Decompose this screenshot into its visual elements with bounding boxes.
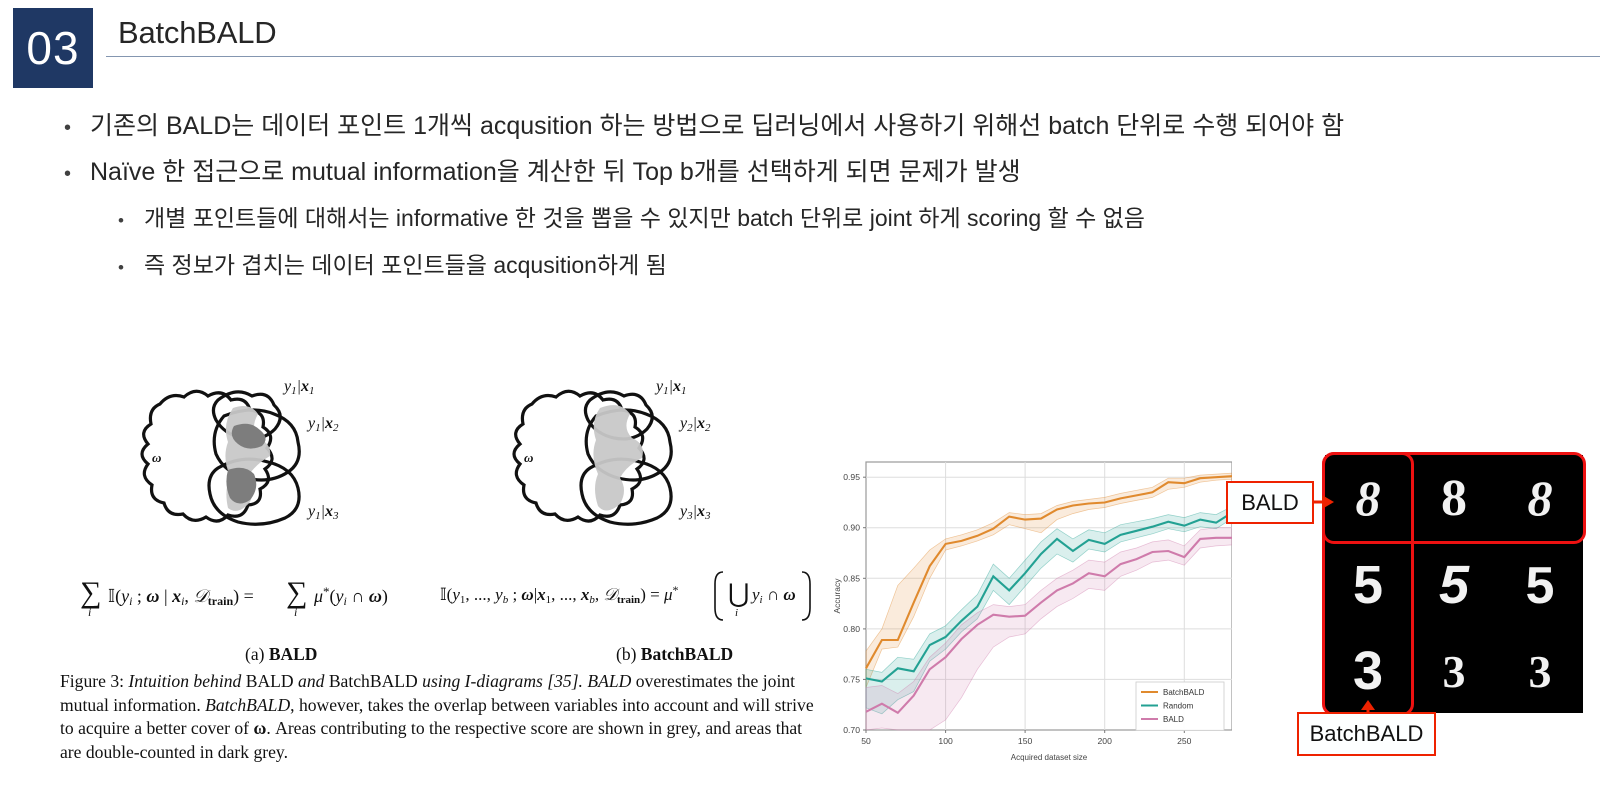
ytick-label: 0.70	[843, 725, 860, 735]
accuracy-chart-svg: 0.700.750.800.850.900.9550100150200250 A…	[826, 440, 1232, 770]
mnist-cell: 5	[1411, 541, 1497, 627]
xtick-label: 250	[1177, 736, 1192, 746]
figure-caption-seg-1: BALD	[246, 671, 294, 691]
bullet-list: • 기존의 BALD는 데이터 포인트 1개씩 acqusition 하는 방법…	[0, 104, 1612, 290]
bullet-marker-icon: •	[64, 106, 90, 150]
svg-text:i: i	[735, 607, 738, 619]
bullet-text: 기존의 BALD는 데이터 포인트 1개씩 acqusition 하는 방법으로…	[90, 104, 1344, 148]
bullet-marker-icon: •	[118, 199, 144, 243]
figure-caption-omega: ω	[253, 718, 266, 738]
subcaption-b-prefix: (b)	[616, 644, 636, 664]
subcaption-a-prefix: (a)	[245, 644, 264, 664]
bullet-text: 즉 정보가 겹치는 데이터 포인트들을 acqusition하게 됨	[144, 243, 667, 287]
mnist-cell: 3	[1411, 627, 1497, 713]
svg-text:𝕀(y1, ..., yb ; ω|x1, ..., xb: 𝕀(y1, ..., yb ; ω|x1, ..., xb, 𝒟train) =…	[440, 583, 678, 606]
i-diagram-bald: ω y1|x1 y1|x2 y1|x3	[100, 372, 440, 552]
subcaption-b-name: BatchBALD	[641, 644, 733, 664]
ytick-label: 0.80	[843, 624, 860, 634]
svg-text:i: i	[294, 605, 297, 619]
mnist-digit: 3	[1443, 646, 1466, 697]
slide-header: 03 BatchBALD	[0, 0, 1612, 96]
paper-figure-excerpt: ω y1|x1 y1|x2 y1|x3 ω y1|x1 y2|x2 y3|x3 …	[60, 372, 822, 772]
xtick-label: 150	[1018, 736, 1033, 746]
mnist-cell: 5	[1325, 541, 1411, 627]
xtick-label: 50	[861, 736, 871, 746]
bullet-text: 개별 포인트들에 대해서는 informative 한 것을 뽑을 수 있지만 …	[144, 196, 1145, 240]
label-y2x2: y2|x2	[678, 415, 711, 434]
mnist-digit: 5	[1526, 557, 1555, 615]
chart-ylabel: Accuracy	[832, 578, 842, 614]
accuracy-chart: 0.700.750.800.850.900.9550100150200250 A…	[826, 440, 1232, 770]
bullet-item: • 개별 포인트들에 대해서는 informative 한 것을 뽑을 수 있지…	[0, 196, 1612, 243]
figure-caption: Figure 3: Intuition behind BALD and Batc…	[60, 670, 822, 764]
equation-bald: ∑ i 𝕀(yi ; ω | xi, 𝒟train) = ∑ i μ*(yi ∩…	[68, 568, 428, 633]
bullet-item: • 즉 정보가 겹치는 데이터 포인트들을 acqusition하게 됨	[0, 243, 1612, 290]
mnist-digit: 8	[1528, 470, 1553, 526]
legend-label-bald: BALD	[1163, 715, 1184, 724]
mnist-cell: 8	[1325, 455, 1411, 541]
label-y3x3: y3|x3	[678, 503, 711, 522]
i-diagram-batchbald: ω y1|x1 y2|x2 y3|x3	[472, 372, 812, 552]
mnist-cell: 8	[1497, 455, 1583, 541]
xtick-label: 100	[938, 736, 953, 746]
bullet-marker-icon: •	[118, 246, 144, 290]
title-divider	[106, 56, 1600, 57]
mnist-digit: 5	[1439, 555, 1470, 615]
bullet-marker-icon: •	[64, 152, 90, 196]
callout-bald: BALD	[1226, 481, 1314, 524]
label-y1x3: y1|x3	[306, 503, 339, 522]
chart-legend: BatchBALDRandomBALD	[1136, 682, 1224, 731]
label-y1x1: y1|x1	[654, 378, 687, 397]
mnist-cell: 3	[1497, 627, 1583, 713]
ytick-label: 0.90	[843, 523, 860, 533]
mnist-cell: 8	[1411, 455, 1497, 541]
ytick-label: 0.95	[843, 472, 860, 482]
figure-caption-seg-3: BatchBALD	[329, 671, 418, 691]
omega-label: ω	[152, 450, 161, 465]
figure-caption-number: Figure 3:	[60, 671, 124, 691]
mnist-digit: 3	[1529, 646, 1552, 697]
legend-label-random: Random	[1163, 702, 1194, 711]
bullet-item: • Naïve 한 접근으로 mutual information을 계산한 뒤…	[0, 150, 1612, 196]
subcaption-b: (b) BatchBALD	[616, 644, 733, 665]
bullet-text: Naïve 한 접근으로 mutual information을 계산한 뒤 T…	[90, 150, 1021, 194]
mnist-digit: 8	[1441, 470, 1467, 527]
label-y1x2: y1|x2	[306, 415, 339, 434]
callout-batchbald: BatchBALD	[1297, 712, 1436, 756]
mnist-cell: 5	[1497, 541, 1583, 627]
ytick-label: 0.75	[843, 674, 860, 684]
figure-caption-seg-2: and	[294, 671, 329, 691]
subcaption-a: (a) BALD	[245, 644, 317, 665]
equation-batchbald: 𝕀(y1, ..., yb ; ω|x1, ..., xb, 𝒟train) =…	[440, 562, 820, 631]
subcaption-a-name: BALD	[269, 644, 318, 664]
svg-text:𝕀(yi ; ω | xi, 𝒟train) =: 𝕀(yi ; ω | xi, 𝒟train) =	[108, 586, 254, 608]
svg-text:i: i	[88, 605, 91, 619]
mnist-grid: 8 8 8 5 5 5 3 3 3	[1325, 455, 1583, 713]
figure-caption-seg-0: Intuition behind	[124, 671, 246, 691]
legend-label-batchbald: BatchBALD	[1163, 688, 1205, 697]
svg-text:μ*(yi ∩ ω): μ*(yi ∩ ω)	[313, 584, 388, 608]
label-y1x1: y1|x1	[282, 378, 315, 397]
mnist-digit: 8	[1356, 470, 1381, 526]
chart-bottom-crop	[826, 768, 1236, 792]
svg-text:yi ∩ ω: yi ∩ ω	[750, 585, 796, 606]
section-number-badge: 03	[13, 8, 93, 88]
page-title: BatchBALD	[118, 15, 276, 51]
figure-caption-seg-6: BatchBALD	[205, 695, 290, 715]
mnist-acquisition-grid-block: 8 8 8 5 5 5 3 3 3	[1325, 455, 1583, 713]
mnist-digit: 3	[1353, 641, 1383, 701]
chart-xlabel: Acquired dataset size	[1011, 753, 1088, 762]
mnist-digit: 5	[1353, 555, 1383, 615]
bullet-item: • 기존의 BALD는 데이터 포인트 1개씩 acqusition 하는 방법…	[0, 104, 1612, 150]
omega-label: ω	[524, 450, 533, 465]
ytick-label: 0.85	[843, 573, 860, 583]
xtick-label: 200	[1098, 736, 1113, 746]
section-number-label: 03	[26, 25, 79, 71]
svg-text:⋃: ⋃	[728, 579, 749, 608]
figure-caption-seg-4: using I-diagrams [35]. BALD	[418, 671, 632, 691]
